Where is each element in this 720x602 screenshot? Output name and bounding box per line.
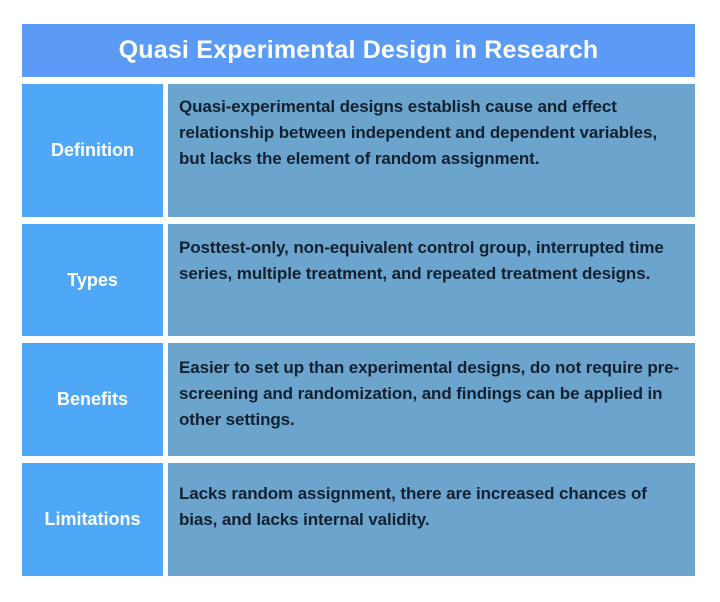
row-label-cell-definition: Definition: [22, 84, 163, 217]
table-row: Benefits Easier to set up than experimen…: [22, 343, 695, 456]
row-content-limitations: Lacks random assignment, there are incre…: [179, 481, 681, 533]
table-row: Definition Quasi-experimental designs es…: [22, 84, 695, 217]
row-content-cell-definition: Quasi-experimental designs establish cau…: [168, 84, 695, 217]
title-bar: Quasi Experimental Design in Research: [22, 24, 695, 77]
row-label-types: Types: [67, 270, 118, 291]
row-content-types: Posttest-only, non-equivalent control gr…: [179, 235, 681, 287]
row-content-definition: Quasi-experimental designs establish cau…: [179, 94, 681, 171]
row-label-cell-types: Types: [22, 224, 163, 336]
row-content-cell-types: Posttest-only, non-equivalent control gr…: [168, 224, 695, 336]
table-row: Limitations Lacks random assignment, the…: [22, 463, 695, 576]
row-label-cell-benefits: Benefits: [22, 343, 163, 456]
row-content-cell-benefits: Easier to set up than experimental desig…: [168, 343, 695, 456]
row-label-definition: Definition: [51, 140, 134, 161]
page-title: Quasi Experimental Design in Research: [119, 38, 599, 63]
table-row: Types Posttest-only, non-equivalent cont…: [22, 224, 695, 336]
row-label-benefits: Benefits: [57, 389, 128, 410]
table-body: Definition Quasi-experimental designs es…: [22, 84, 695, 582]
row-label-limitations: Limitations: [44, 509, 140, 530]
infographic-table: Quasi Experimental Design in Research De…: [0, 0, 720, 602]
row-content-benefits: Easier to set up than experimental desig…: [179, 355, 681, 432]
row-content-cell-limitations: Lacks random assignment, there are incre…: [168, 463, 695, 576]
row-label-cell-limitations: Limitations: [22, 463, 163, 576]
